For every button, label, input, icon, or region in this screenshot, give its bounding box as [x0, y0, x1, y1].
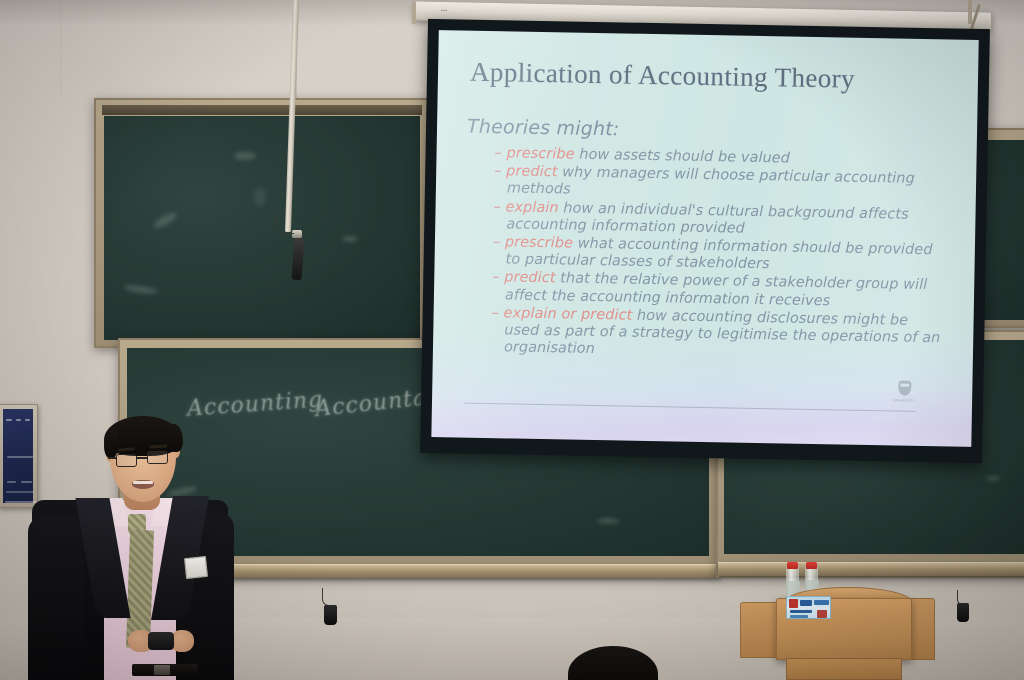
chalk-smudge — [597, 518, 619, 524]
bullet-keyword: explain — [505, 199, 558, 216]
eyeglasses-bridge — [136, 457, 148, 459]
presentation-slide: Application of Accounting Theory Theorie… — [431, 30, 978, 447]
eyeglasses-lens-right — [147, 451, 168, 464]
decal-mark — [790, 615, 808, 618]
bullet-keyword: prescribe — [505, 234, 573, 251]
chalk-rail-right — [718, 562, 1024, 576]
bullet-keyword: prescribe — [506, 145, 574, 162]
decal-mark — [800, 600, 812, 606]
lecture-hall-photo: Accounting Accountability ••• Applicatio… — [0, 0, 1024, 680]
presenter — [28, 412, 248, 680]
left-arm — [28, 516, 84, 680]
hair-side-right — [168, 424, 183, 452]
teeth — [133, 481, 153, 484]
chalkboard-left-frame — [94, 98, 430, 348]
bottle-cap — [806, 562, 817, 569]
wall-microphone-right — [957, 603, 969, 622]
slide-title: Application of Accounting Theory — [470, 57, 855, 95]
screen-mount-bracket-left — [412, 2, 416, 24]
slide-lead-text: Theories might: — [467, 116, 620, 141]
housing-brand-tag: ••• — [441, 8, 448, 14]
bullet-dash: – — [494, 163, 506, 179]
eyeglasses-lens-left — [116, 454, 137, 467]
decal-mark — [814, 600, 829, 605]
bullet-dash: – — [493, 199, 505, 215]
wall-microphone-left — [324, 605, 337, 625]
decal-mark — [817, 610, 827, 618]
chalkboard-left-surface — [104, 116, 420, 340]
notice-text-line — [7, 481, 16, 483]
chalk-smudge — [151, 210, 178, 231]
decal-mark — [789, 599, 798, 608]
decal-mark — [790, 610, 812, 613]
wall-microphone-cable-left — [322, 588, 332, 606]
bullet-text: be valued — [713, 149, 790, 166]
bullet-keyword: predict — [506, 164, 558, 181]
chalk-smudge — [342, 236, 358, 242]
presentation-clicker[interactable] — [148, 632, 174, 650]
bullet-text: how assets — [575, 147, 666, 165]
wall-seam-vertical-2 — [60, 0, 61, 98]
bullet-text: that the relative power of a stakeholder… — [505, 271, 928, 309]
bullet-dash: – — [494, 145, 506, 161]
chalk-smudge — [254, 188, 266, 206]
bullet-dash: – — [493, 234, 505, 250]
bullet-keyword: predict — [504, 270, 556, 287]
microphone-cable — [276, 212, 294, 234]
notice-text-line — [16, 419, 21, 421]
chalk-smudge — [234, 152, 256, 160]
slide-divider-rule — [464, 403, 916, 412]
bullet-dash: – — [492, 270, 504, 286]
podium-column — [786, 658, 902, 680]
slide-bullet-list: – prescribe how assets should be valued–… — [491, 145, 945, 366]
belt-buckle — [154, 665, 170, 675]
podium-equipment-decal — [786, 596, 831, 619]
bullet-keyword: explain or predict — [503, 305, 632, 323]
hair-side-left — [104, 428, 118, 458]
bullet-text: should — [665, 148, 714, 165]
projector-screen-border: Application of Accounting Theory Theorie… — [420, 19, 990, 463]
chalkboard-top-trim — [102, 105, 422, 115]
notice-text-line — [6, 419, 12, 421]
bullet-dash: – — [491, 305, 503, 321]
slide-bullet: – explain or predict how accounting disc… — [491, 305, 942, 365]
university-logo-caption: UNIVERSITY — [884, 398, 924, 403]
eyeglasses-arm — [108, 457, 117, 459]
name-badge — [184, 556, 208, 579]
chalk-smudge — [124, 284, 159, 296]
bullet-text: why managers will choose particular acco… — [507, 164, 915, 197]
mouth — [132, 480, 154, 489]
university-logo-icon — [898, 381, 911, 396]
chalk-smudge — [986, 476, 1000, 481]
bullet-text: how an individual's cultural background … — [506, 200, 909, 237]
bottle-cap — [787, 562, 798, 569]
